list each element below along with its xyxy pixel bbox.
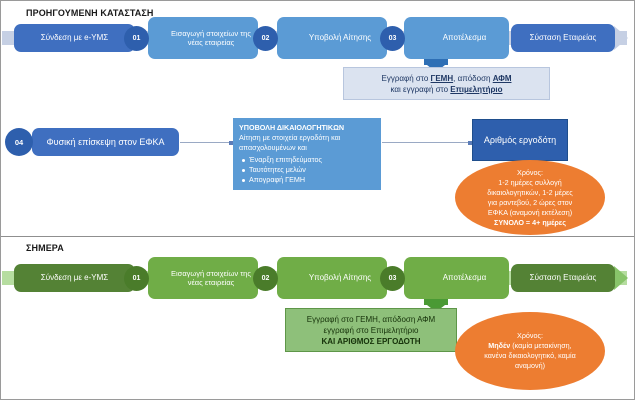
step-blue-2[interactable]: Υποβολή Αίτησης: [277, 17, 387, 59]
step-blue-0[interactable]: Σύνδεση με e-ΥΜΣ: [14, 24, 135, 52]
connector-infobox-to-result: [382, 142, 471, 143]
time-old-line2: 1-2 ημέρες συλλογή: [498, 178, 562, 188]
time-new-line1: Χρόνος:: [517, 331, 543, 341]
step-green-4[interactable]: Σύσταση Εταιρείας: [511, 264, 615, 292]
step-blue-1-number-label: 01: [133, 35, 141, 42]
infobox-bullet: Ταυτότητες μελών: [249, 165, 375, 175]
step-green-3-number: 03: [380, 266, 405, 291]
step-green-1-number-label: 01: [133, 275, 141, 282]
section-title-today: ΣΗΜΕΡΑ: [26, 243, 64, 253]
step-efka[interactable]: Φυσική επίσκεψη στον ΕΦΚΑ: [32, 128, 179, 156]
callout-green-line1: Εγγραφή στο ΓΕΜΗ, απόδοση ΑΦΜ: [307, 314, 435, 325]
step-blue-2-number: 02: [253, 26, 278, 51]
infobox-bullet: Έναρξη επιτηδεύματος: [249, 155, 375, 165]
infobox-bullet: Απογραφή ΓΕΜΗ: [249, 175, 375, 185]
step-blue-2-number-label: 02: [262, 35, 270, 42]
time-new-line3: κανένα δικαιολογητικό, καμία: [484, 351, 575, 361]
step-blue-4[interactable]: Σύσταση Εταιρείας: [511, 24, 615, 52]
diagram-canvas: ΠΡΟΗΓΟΥΜΕΝΗ ΚΑΤΑΣΤΑΣΗ Σύνδεση με e-ΥΜΣ Ε…: [0, 0, 635, 400]
step-green-3-label: Αποτέλεσμα: [443, 273, 487, 283]
step-blue-1-number: 01: [124, 26, 149, 51]
step-green-2[interactable]: Υποβολή Αίτησης: [277, 257, 387, 299]
step-blue-1-label: Εισαγωγή στοιχείων της νέας εταιρείας: [168, 29, 254, 47]
step-blue-3-label: Αποτέλεσμα: [443, 33, 487, 43]
frame-left: [0, 0, 1, 400]
step-green-1-number: 01: [124, 266, 149, 291]
step-green-2-number: 02: [253, 266, 278, 291]
callout-green: Εγγραφή στο ΓΕΜΗ, απόδοση ΑΦΜ εγγραφή στ…: [285, 308, 457, 352]
step-green-1[interactable]: Εισαγωγή στοιχείων της νέας εταιρείας: [148, 257, 258, 299]
callout-blue: Εγγραφή στο ΓΕΜΗ, απόδοση ΑΦΜ και εγγραφ…: [343, 67, 550, 100]
time-ellipse-old: Χρόνος: 1-2 ημέρες συλλογή δικαιολογητικ…: [455, 160, 605, 235]
time-old-line1: Χρόνος:: [517, 168, 543, 178]
callout-blue-line1: Εγγραφή στο ΓΕΜΗ, απόδοση ΑΦΜ: [382, 73, 512, 84]
infobox-heading: ΥΠΟΒΟΛΗ ΔΙΚΑΙΟΛΟΓΗΤΙΚΩΝ: [239, 123, 375, 133]
connector-efka-to-infobox: [180, 142, 232, 143]
step-green-2-number-label: 02: [262, 275, 270, 282]
step-green-1-label: Εισαγωγή στοιχείων της νέας εταιρείας: [168, 269, 254, 287]
step-blue-0-label: Σύνδεση με e-ΥΜΣ: [41, 33, 108, 43]
time-ellipse-new: Χρόνος: Μηδέν (καμία μετακίνηση, κανένα …: [455, 312, 605, 390]
step-green-0-label: Σύνδεση με e-ΥΜΣ: [41, 273, 108, 283]
infobox-documents: ΥΠΟΒΟΛΗ ΔΙΚΑΙΟΛΟΓΗΤΙΚΩΝ Αίτηση με στοιχε…: [233, 118, 381, 190]
time-old-line3: δικαιολογητικών, 1-2 μέρες: [487, 188, 572, 198]
time-new-emphasis: Μηδέν: [488, 341, 510, 350]
time-old-line4: για ραντεβού, 2 ώρες στον: [488, 198, 572, 208]
band-arrowhead-blue: [614, 26, 628, 50]
frame-top: [0, 0, 635, 1]
step-green-4-label: Σύσταση Εταιρείας: [530, 273, 597, 283]
step-efka-number: 04: [5, 128, 33, 156]
time-new-line2: Μηδέν (καμία μετακίνηση,: [488, 341, 571, 351]
step-blue-2-label: Υποβολή Αίτησης: [309, 33, 371, 43]
time-new-line4: αναμονή): [515, 361, 545, 371]
result-employer-number-label: Αριθμός εργοδότη: [484, 135, 556, 145]
step-blue-1[interactable]: Εισαγωγή στοιχείων της νέας εταιρείας: [148, 17, 258, 59]
step-green-3[interactable]: Αποτέλεσμα: [404, 257, 509, 299]
result-employer-number[interactable]: Αριθμός εργοδότη: [472, 119, 568, 161]
step-blue-3[interactable]: Αποτέλεσμα: [404, 17, 509, 59]
step-blue-3-number: 03: [380, 26, 405, 51]
band-arrowhead-green: [614, 266, 628, 290]
time-old-line5: ΕΦΚΑ (αναμονή εκτέλεση): [488, 208, 572, 218]
step-green-2-label: Υποβολή Αίτησης: [309, 273, 371, 283]
step-green-0[interactable]: Σύνδεση με e-ΥΜΣ: [14, 264, 135, 292]
step-green-3-number-label: 03: [389, 275, 397, 282]
infobox-bullet-list: Έναρξη επιτηδεύματος Ταυτότητες μελών Απ…: [239, 155, 375, 185]
callout-blue-line2: και εγγραφή στο Επιμελητήριο: [390, 84, 502, 95]
time-old-total: ΣΥΝΟΛΟ = 4+ ημέρες: [494, 218, 566, 228]
callout-green-line2: εγγραφή στο Επιμελητήριο: [324, 325, 419, 336]
section-divider: [0, 236, 635, 237]
section-title-previous: ΠΡΟΗΓΟΥΜΕΝΗ ΚΑΤΑΣΤΑΣΗ: [26, 8, 153, 18]
step-efka-label: Φυσική επίσκεψη στον ΕΦΚΑ: [46, 137, 164, 147]
step-efka-number-label: 04: [15, 138, 23, 147]
infobox-body: Αίτηση με στοιχεία εργοδότη και απασχολο…: [239, 133, 340, 152]
callout-green-line3: ΚΑΙ ΑΡΙΘΜΟΣ ΕΡΓΟΔΟΤΗ: [321, 336, 420, 347]
step-blue-4-label: Σύσταση Εταιρείας: [530, 33, 597, 43]
step-blue-3-number-label: 03: [389, 35, 397, 42]
